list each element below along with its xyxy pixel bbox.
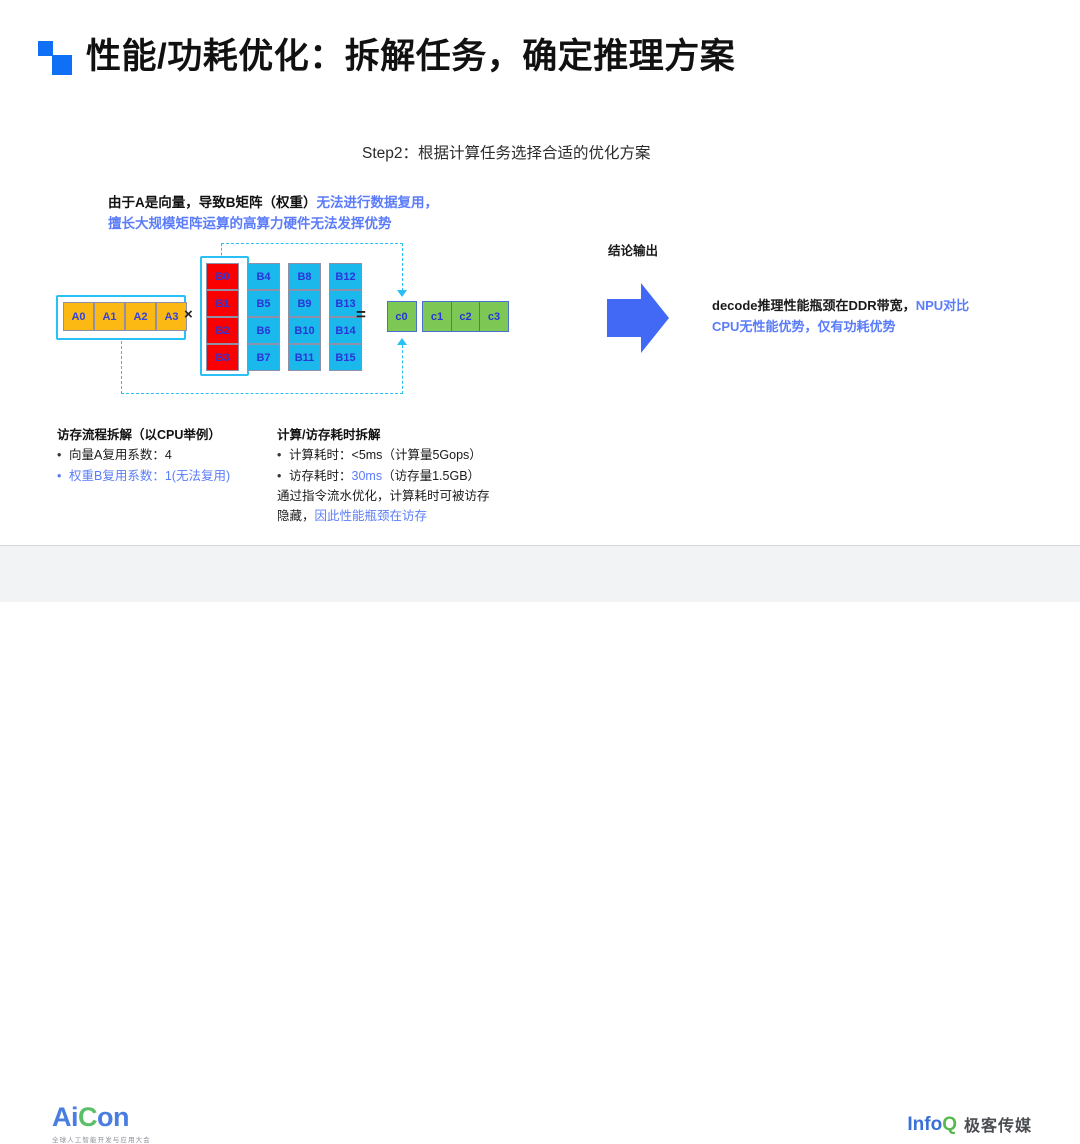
memory-access-heading: 访存流程拆解（以CPU举例）	[57, 425, 230, 445]
bullet-icon: •	[277, 466, 289, 486]
memory-access-item-text: 权重B复用系数：1(无法复用)	[69, 469, 230, 483]
blue-squares-icon	[38, 39, 72, 75]
c-cell-highlighted: c0	[387, 301, 417, 332]
conclusion-text-blue-2: CPU无性能优势，仅有功耗优势	[712, 319, 895, 334]
aicon-logo-text: AiCon	[52, 1104, 151, 1131]
b-cell: B1	[206, 290, 239, 317]
right-arrow-icon	[607, 283, 669, 353]
a-cell: A3	[156, 302, 187, 331]
c-cell: c3	[479, 301, 509, 332]
dash-bottom-horizontal	[121, 393, 403, 394]
b-cell: B5	[247, 290, 280, 317]
description-line-1-black: 由于A是向量，导致B矩阵（权重）	[108, 195, 317, 210]
timing-item-value: 30ms	[352, 469, 383, 483]
b-column-highlight-box	[200, 256, 249, 376]
footer-bar: AiCon 全球人工智能开发与应用大会 InfoQ 极客传媒	[0, 546, 1080, 602]
timing-footer-line-2: 隐藏，因此性能瓶颈在访存	[277, 506, 490, 526]
conclusion-text-blue-1: NPU对比	[916, 298, 969, 313]
a-vector-highlight-box	[56, 295, 186, 340]
memory-access-item-text: 向量A复用系数：4	[69, 448, 172, 462]
slide-root: 性能/功耗优化：拆解任务，确定推理方案 Step2：根据计算任务选择合适的优化方…	[0, 0, 1080, 602]
infoq-chinese: 极客传媒	[964, 1112, 1032, 1136]
page-title: 性能/功耗优化：拆解任务，确定推理方案	[38, 38, 735, 77]
description-line-1-blue: 无法进行数据复用，	[317, 195, 439, 210]
dash-top-to-c0	[402, 243, 403, 291]
step-subtitle: Step2：根据计算任务选择合适的优化方案	[362, 141, 651, 163]
infoq-logo-text: InfoQ	[907, 1115, 957, 1134]
memory-access-item: •权重B复用系数：1(无法复用)	[57, 466, 230, 486]
c-vector: c0 c1 c2 c3	[388, 301, 509, 332]
b-matrix-column-2: B8 B9 B10 B11	[288, 263, 321, 371]
bullet-icon: •	[57, 466, 69, 486]
aicon-logo: AiCon 全球人工智能开发与应用大会	[52, 1104, 151, 1144]
timing-block: 计算/访存耗时拆解 •计算耗时：<5ms（计算量5Gops） •访存耗时：30m…	[277, 425, 490, 526]
infoq-logo: InfoQ 极客传媒	[907, 1112, 1032, 1136]
infoq-q: Q	[942, 1114, 957, 1135]
multiply-operator: ×	[184, 306, 193, 323]
dash-b-column-up	[221, 243, 222, 265]
b-matrix-column-1: B4 B5 B6 B7	[247, 263, 280, 371]
timing-item-prefix: 计算耗时：	[289, 448, 352, 462]
b-cell: B13	[329, 290, 362, 317]
dash-bottom-to-c0	[402, 345, 403, 394]
timing-footer-black: 隐藏，	[277, 509, 315, 523]
b-cell: B11	[288, 344, 321, 371]
a-cell: A1	[94, 302, 125, 331]
aicon-subtitle: 全球人工智能开发与应用大会	[52, 1134, 151, 1144]
aicon-on: on	[97, 1102, 129, 1132]
aicon-c: C	[78, 1102, 97, 1132]
timing-footer-line-1: 通过指令流水优化，计算耗时可被访存	[277, 486, 490, 506]
bullet-icon: •	[57, 445, 69, 465]
b-cell: B0	[206, 263, 239, 290]
timing-item-value: <5ms	[352, 448, 383, 462]
infoq-info: Info	[907, 1114, 942, 1135]
timing-item-prefix: 访存耗时：	[289, 469, 352, 483]
b-cell: B9	[288, 290, 321, 317]
c-cell: c2	[451, 301, 481, 332]
arrow-head-down-icon	[397, 290, 407, 297]
memory-access-block: 访存流程拆解（以CPU举例） •向量A复用系数：4 •权重B复用系数：1(无法复…	[57, 425, 230, 486]
timing-footer-blue: 因此性能瓶颈在访存	[315, 509, 428, 523]
memory-access-item: •向量A复用系数：4	[57, 445, 230, 465]
b-cell: B2	[206, 317, 239, 344]
c-cell: c1	[422, 301, 452, 332]
b-matrix-column-3: B12 B13 B14 B15	[329, 263, 362, 371]
timing-item-suffix: （访存量1.5GB）	[382, 469, 480, 483]
diagram-description: 由于A是向量，导致B矩阵（权重）无法进行数据复用， 擅长大规模矩阵运算的高算力硬…	[108, 193, 438, 235]
page-title-text: 性能/功耗优化：拆解任务，确定推理方案	[86, 38, 735, 77]
b-cell: B10	[288, 317, 321, 344]
b-cell: B3	[206, 344, 239, 371]
a-cell: A0	[63, 302, 94, 331]
dash-a-vector-down	[121, 336, 122, 394]
b-cell: B14	[329, 317, 362, 344]
dash-top-horizontal	[221, 243, 403, 244]
timing-item-suffix: （计算量5Gops）	[382, 448, 481, 462]
conclusion-text: decode推理性能瓶颈在DDR带宽，NPU对比 CPU无性能优势，仅有功耗优势	[712, 296, 1012, 338]
conclusion-text-black: decode推理性能瓶颈在DDR带宽，	[712, 298, 916, 313]
b-matrix: B0 B1 B2 B3 B4 B5 B6 B7 B8 B9 B10 B11 B1…	[206, 263, 362, 371]
b-cell: B15	[329, 344, 362, 371]
arrow-head-up-icon	[397, 338, 407, 345]
b-cell: B4	[247, 263, 280, 290]
b-cell: B12	[329, 263, 362, 290]
b-matrix-column-0: B0 B1 B2 B3	[206, 263, 239, 371]
bullet-icon: •	[277, 445, 289, 465]
b-cell: B6	[247, 317, 280, 344]
description-line-1: 由于A是向量，导致B矩阵（权重）无法进行数据复用，	[108, 193, 438, 214]
description-line-2: 擅长大规模矩阵运算的高算力硬件无法发挥优势	[108, 214, 438, 235]
b-cell: B7	[247, 344, 280, 371]
equals-operator: =	[356, 305, 366, 325]
a-vector: A0 A1 A2 A3	[63, 302, 187, 331]
b-cell: B8	[288, 263, 321, 290]
timing-heading: 计算/访存耗时拆解	[277, 425, 490, 445]
timing-item: •计算耗时：<5ms（计算量5Gops）	[277, 445, 490, 465]
aicon-i: i	[71, 1102, 78, 1132]
timing-item: •访存耗时：30ms（访存量1.5GB）	[277, 466, 490, 486]
a-cell: A2	[125, 302, 156, 331]
aicon-a: A	[52, 1102, 71, 1132]
conclusion-label: 结论输出	[608, 240, 658, 259]
